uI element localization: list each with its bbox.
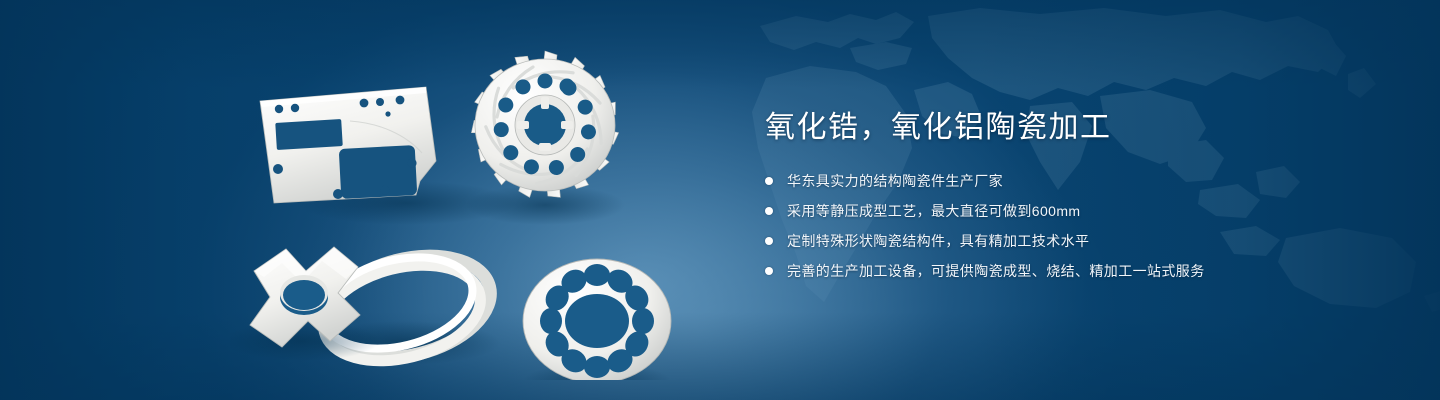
list-item: 完善的生产加工设备，可提供陶瓷成型、烧结、精加工一站式服务	[765, 260, 1405, 282]
ceramic-products-image	[230, 35, 730, 380]
hero-banner: 氧化锆，氧化铝陶瓷加工 华东具实力的结构陶瓷件生产厂家 采用等静压成型工艺，最大…	[0, 0, 1440, 400]
feature-list: 华东具实力的结构陶瓷件生产厂家 采用等静压成型工艺，最大直径可做到600mm 定…	[765, 170, 1405, 282]
ceramic-impeller-disc	[465, 50, 625, 225]
list-item: 定制特殊形状陶瓷结构件，具有精加工技术水平	[765, 230, 1405, 252]
list-item-label: 完善的生产加工设备，可提供陶瓷成型、烧结、精加工一站式服务	[787, 260, 1205, 282]
bullet-dot-icon	[765, 237, 773, 245]
page-title: 氧化锆，氧化铝陶瓷加工	[765, 108, 1405, 148]
ceramic-valve-plate	[523, 259, 671, 380]
list-item: 华东具实力的结构陶瓷件生产厂家	[765, 170, 1405, 192]
list-item-label: 华东具实力的结构陶瓷件生产厂家	[787, 170, 1003, 192]
banner-copy: 氧化锆，氧化铝陶瓷加工 华东具实力的结构陶瓷件生产厂家 采用等静压成型工艺，最大…	[765, 108, 1405, 282]
list-item-label: 定制特殊形状陶瓷结构件，具有精加工技术水平	[787, 230, 1089, 252]
bullet-dot-icon	[765, 177, 773, 185]
bullet-dot-icon	[765, 207, 773, 215]
ceramic-cross-plate	[230, 247, 380, 361]
list-item-label: 采用等静压成型工艺，最大直径可做到600mm	[787, 200, 1080, 222]
list-item: 采用等静压成型工艺，最大直径可做到600mm	[765, 200, 1405, 222]
bullet-dot-icon	[765, 267, 773, 275]
